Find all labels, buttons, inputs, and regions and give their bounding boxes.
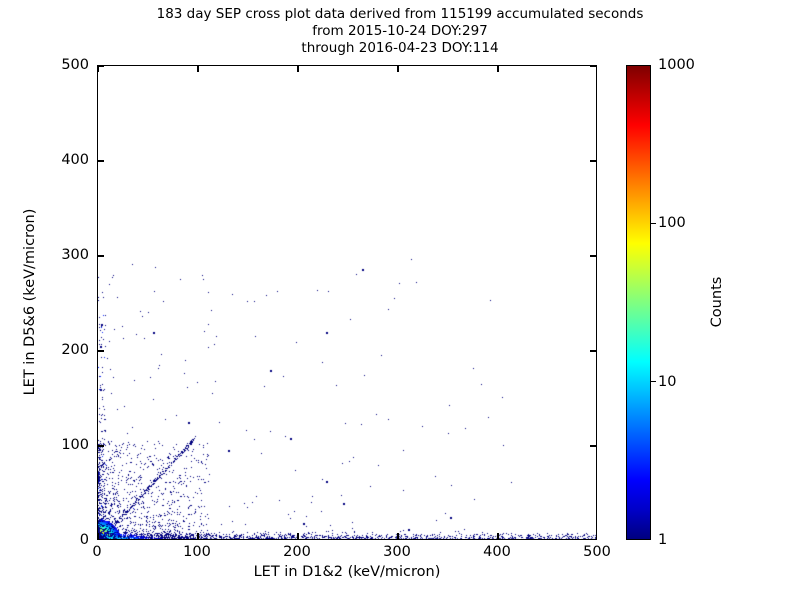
x-tick-100 <box>197 66 198 72</box>
y-tick-400 <box>590 160 596 161</box>
colorbar-gradient <box>627 66 650 539</box>
y-tick-200 <box>98 350 104 351</box>
y-tick-400 <box>98 160 104 161</box>
y-tick-300 <box>590 255 596 256</box>
y-tick-100 <box>590 445 596 446</box>
x-tick-label-200: 200 <box>283 544 311 560</box>
colorbar-tick-label-100: 100 <box>658 215 686 231</box>
x-tick-200 <box>297 533 298 539</box>
y-tick-label-0: 0 <box>80 532 89 548</box>
y-tick-500 <box>590 65 596 66</box>
x-tick-300 <box>397 533 398 539</box>
x-tick-0 <box>97 533 98 539</box>
colorbar-tick-label-10: 10 <box>658 374 676 390</box>
x-tick-400 <box>497 533 498 539</box>
x-tick-100 <box>197 533 198 539</box>
x-tick-200 <box>297 66 298 72</box>
colorbar-tick-100 <box>651 223 656 224</box>
y-axis-label: LET in D5&6 (keV/micron) <box>22 209 38 396</box>
x-tick-400 <box>497 66 498 72</box>
y-tick-label-300: 300 <box>61 247 89 263</box>
title-line-2: from 2015-10-24 DOY:297 <box>0 23 800 40</box>
y-tick-label-200: 200 <box>61 342 89 358</box>
y-tick-300 <box>98 255 104 256</box>
y-tick-100 <box>98 445 104 446</box>
x-tick-label-500: 500 <box>583 544 611 560</box>
y-tick-500 <box>98 65 104 66</box>
colorbar-label: Counts <box>709 277 725 328</box>
x-tick-0 <box>97 66 98 72</box>
y-tick-200 <box>590 350 596 351</box>
x-tick-label-400: 400 <box>483 544 511 560</box>
x-tick-300 <box>397 66 398 72</box>
x-tick-label-0: 0 <box>92 544 101 560</box>
plot-title: 183 day SEP cross plot data derived from… <box>0 6 800 57</box>
y-tick-label-100: 100 <box>61 437 89 453</box>
colorbar-tick-label-1: 1 <box>658 532 667 548</box>
colorbar <box>626 65 651 540</box>
title-line-1: 183 day SEP cross plot data derived from… <box>0 6 800 23</box>
y-tick-label-400: 400 <box>61 152 89 168</box>
colorbar-tick-10 <box>651 381 656 382</box>
title-line-3: through 2016-04-23 DOY:114 <box>0 40 800 57</box>
density-scatter-layer <box>98 66 597 540</box>
figure-canvas: 183 day SEP cross plot data derived from… <box>0 0 800 600</box>
x-tick-label-300: 300 <box>383 544 411 560</box>
y-tick-label-500: 500 <box>61 57 89 73</box>
colorbar-tick-label-1000: 1000 <box>658 57 695 73</box>
x-axis-label: LET in D1&2 (keV/micron) <box>97 564 597 580</box>
x-tick-label-100: 100 <box>183 544 211 560</box>
plot-area <box>97 65 597 540</box>
